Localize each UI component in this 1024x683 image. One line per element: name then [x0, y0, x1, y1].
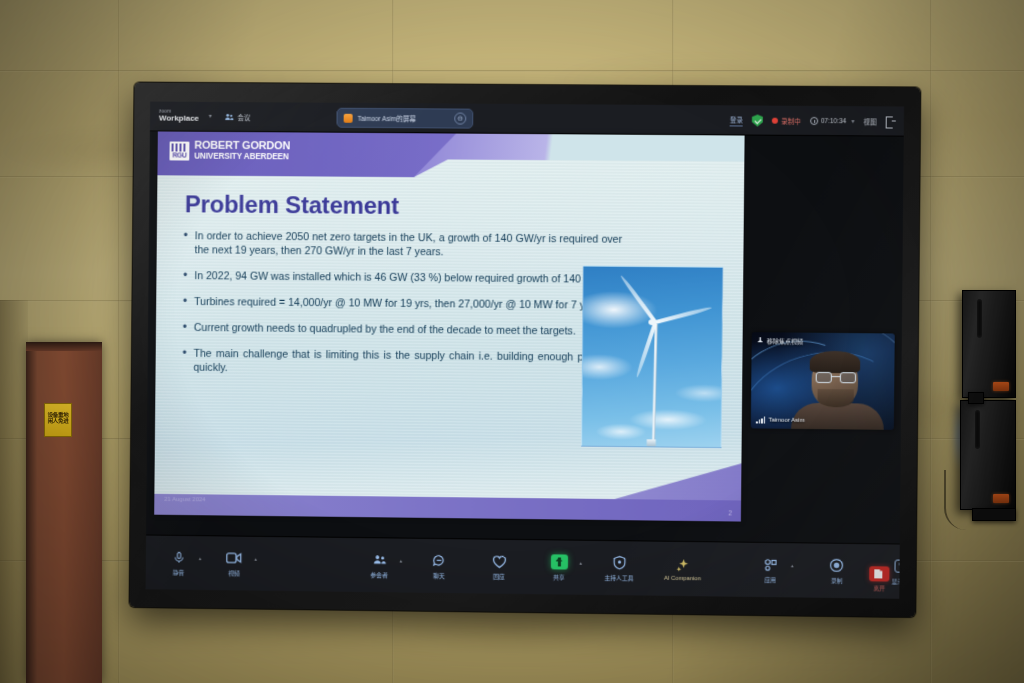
sparkles-icon: [675, 556, 690, 573]
list-item: • In order to achieve 2050 net zero targ…: [183, 229, 622, 261]
glasses-icon: [816, 372, 856, 383]
zoom-bottom-toolbar: 静音 ▴ 视频 ▴: [146, 534, 900, 598]
workplace-label: Workplace: [159, 115, 199, 123]
door-header: [26, 342, 102, 351]
chat-label: 聊天: [433, 571, 445, 580]
bullet-text: In 2022, 94 GW was installed which is 46…: [194, 269, 622, 287]
list-item: • The main challenge that is limiting th…: [182, 347, 621, 379]
apps-label: 应用: [764, 575, 776, 584]
timer-value: 07:10:34: [821, 117, 847, 124]
shared-content-stage: RGU ROBERT GORDON UNIVERSITY ABERDEEN Pr…: [146, 131, 904, 543]
wind-turbine-image: [581, 266, 723, 449]
apps-button[interactable]: 应用 ▴: [755, 556, 785, 584]
chevron-up-icon[interactable]: ▴: [199, 556, 202, 562]
mute-label: 静音: [173, 568, 185, 577]
participant-name: Taimoor Asim: [768, 417, 804, 423]
apps-icon: [763, 556, 777, 573]
share-screen-label: 共享: [553, 572, 565, 581]
participant-name-badge: Taimoor Asim: [756, 416, 805, 424]
lens-right: [840, 372, 856, 383]
participants-icon: [372, 551, 387, 568]
slide-bullet-list: • In order to achieve 2050 net zero targ…: [182, 229, 622, 391]
record-button[interactable]: 录制: [822, 557, 852, 585]
heart-icon: [491, 553, 506, 570]
turbine-blade: [655, 306, 712, 324]
chat-button[interactable]: 聊天: [424, 552, 454, 580]
screen: zoom Workplace ▾ 会议 T: [146, 102, 904, 599]
bullet-text: In order to achieve 2050 net zero target…: [195, 229, 623, 261]
door-jamb: [26, 342, 37, 683]
bullet-marker: •: [183, 269, 187, 283]
top-bar-right-cluster: 登录 录制中 07:10:34 ▾ 视图: [730, 105, 896, 136]
participant-video-tile[interactable]: 移除焦点视频 Taimoor Asim: [751, 332, 895, 430]
leave-icon: [869, 566, 889, 581]
chevron-down-icon[interactable]: ▾: [851, 118, 854, 125]
screen-share-source-icon: [344, 113, 353, 122]
slide-footer-band: [154, 482, 741, 522]
presentation-slide: RGU ROBERT GORDON UNIVERSITY ABERDEEN Pr…: [154, 131, 744, 521]
rgu-crest-icon: RGU: [169, 141, 189, 160]
closed-caption-icon: CC: [894, 558, 904, 575]
shared-screen-tab[interactable]: Taimoor Asim的屏幕 ⊖: [337, 108, 474, 129]
pin-icon: [757, 337, 764, 345]
participants-button[interactable]: 参会者 ▴: [364, 551, 394, 579]
university-name: ROBERT GORDON UNIVERSITY ABERDEEN: [194, 141, 290, 162]
lens-left: [816, 372, 832, 383]
list-item: • Current growth needs to quadrupled by …: [183, 321, 622, 339]
bullet-text: The main challenge that is limiting this…: [193, 347, 621, 379]
unpin-video-label: 移除焦点视频: [767, 336, 803, 345]
host-tools-button[interactable]: 主持人工具: [604, 554, 634, 582]
login-link[interactable]: 登录: [730, 114, 743, 126]
lens-bridge: [832, 376, 840, 377]
speaker-bottom: [960, 400, 1016, 510]
exit-fullscreen-icon[interactable]: [886, 116, 896, 126]
reactions-button[interactable]: 回应: [484, 553, 514, 581]
view-button[interactable]: 视图: [863, 116, 876, 126]
logo-line-2: UNIVERSITY ABERDEEN: [194, 152, 290, 161]
chevron-up-icon[interactable]: ▴: [254, 557, 257, 563]
bullet-marker: •: [183, 295, 187, 309]
participant-beard: [817, 389, 853, 407]
shield-icon: [612, 554, 625, 571]
ai-companion-label: AI Companion: [664, 575, 701, 581]
recording-label: 录制中: [781, 116, 801, 126]
share-screen-button[interactable]: 共享 ▴: [544, 553, 574, 581]
chevron-up-icon[interactable]: ▴: [579, 561, 582, 567]
recording-indicator[interactable]: 录制中: [772, 116, 801, 126]
chevron-up-icon[interactable]: ▴: [791, 563, 794, 569]
host-tools-label: 主持人工具: [604, 573, 633, 582]
leave-label: 离开: [873, 583, 885, 592]
list-item: • Turbines required = 14,000/yr @ 10 MW …: [183, 295, 622, 313]
unpin-video-control[interactable]: 移除焦点视频: [757, 336, 803, 345]
bullet-marker: •: [183, 321, 187, 335]
rgu-logo: RGU ROBERT GORDON UNIVERSITY ABERDEEN: [169, 140, 290, 161]
meetings-label: 会议: [238, 112, 251, 122]
speaker-mount-bracket: [972, 508, 1016, 521]
bullet-marker: •: [182, 347, 186, 375]
meetings-icon: [225, 111, 235, 121]
shared-screen-tab-label: Taimoor Asim的屏幕: [358, 113, 450, 124]
clock-icon: [810, 117, 818, 125]
room-scene: 设备重地 闲人免进 zoom Workplace ▾: [0, 0, 1024, 683]
speaker-port: [975, 410, 980, 449]
mute-button[interactable]: 静音 ▴: [163, 549, 193, 577]
encryption-shield-icon[interactable]: [752, 115, 763, 127]
participant-hair: [810, 351, 861, 374]
bullet-marker: •: [183, 229, 187, 257]
reactions-label: 回应: [493, 572, 505, 581]
participants-label: 参会者: [370, 570, 387, 579]
minimize-share-icon[interactable]: ⊖: [454, 113, 466, 125]
bullet-text: Turbines required = 14,000/yr @ 10 MW fo…: [194, 295, 622, 313]
chevron-down-icon[interactable]: ▾: [209, 113, 212, 120]
meeting-timer: 07:10:34 ▾: [810, 117, 855, 125]
list-item: • In 2022, 94 GW was installed which is …: [183, 269, 622, 287]
microphone-icon: [172, 549, 185, 566]
turbine-hub: [648, 320, 656, 326]
speaker-top: [962, 290, 1016, 398]
turbine-blade: [619, 275, 657, 324]
speaker-badge-icon: [993, 494, 1009, 503]
chat-icon: [432, 552, 446, 569]
turbine-mast: [652, 324, 658, 442]
wall-shadow: [0, 300, 28, 683]
captions-label: 显示字幕: [891, 577, 904, 586]
recording-dot-icon: [772, 118, 778, 124]
wall-mounted-display: zoom Workplace ▾ 会议 T: [130, 83, 921, 618]
meetings-nav-item[interactable]: 会议: [225, 111, 251, 121]
slide-page-number: 2: [728, 510, 732, 517]
slide-title: Problem Statement: [185, 191, 399, 221]
chevron-up-icon[interactable]: ▴: [400, 559, 403, 565]
leave-meeting-button[interactable]: 离开: [869, 566, 889, 592]
record-icon: [829, 557, 844, 574]
speaker-badge-icon: [993, 382, 1009, 391]
stop-video-label: 视频: [228, 568, 240, 577]
slide-date: 21 August 2024: [164, 497, 205, 503]
speaker-mount-bracket: [968, 392, 984, 404]
stop-video-button[interactable]: 视频 ▴: [219, 549, 249, 577]
speaker-port: [977, 299, 982, 337]
turbine-base: [647, 439, 656, 446]
share-screen-icon: [550, 553, 567, 570]
signal-strength-icon: [756, 416, 765, 423]
captions-button[interactable]: CC 显示字幕 ▴: [888, 557, 904, 586]
record-label: 录制: [831, 576, 843, 585]
zoom-workplace-logo[interactable]: zoom Workplace: [159, 109, 199, 123]
warning-sign: 设备重地 闲人免进: [44, 403, 72, 437]
camera-icon: [226, 549, 242, 566]
ai-companion-button[interactable]: AI Companion: [664, 556, 701, 582]
speaker-cable: [944, 470, 966, 530]
bullet-text: Current growth needs to quadrupled by th…: [194, 321, 622, 339]
door[interactable]: [26, 342, 102, 683]
